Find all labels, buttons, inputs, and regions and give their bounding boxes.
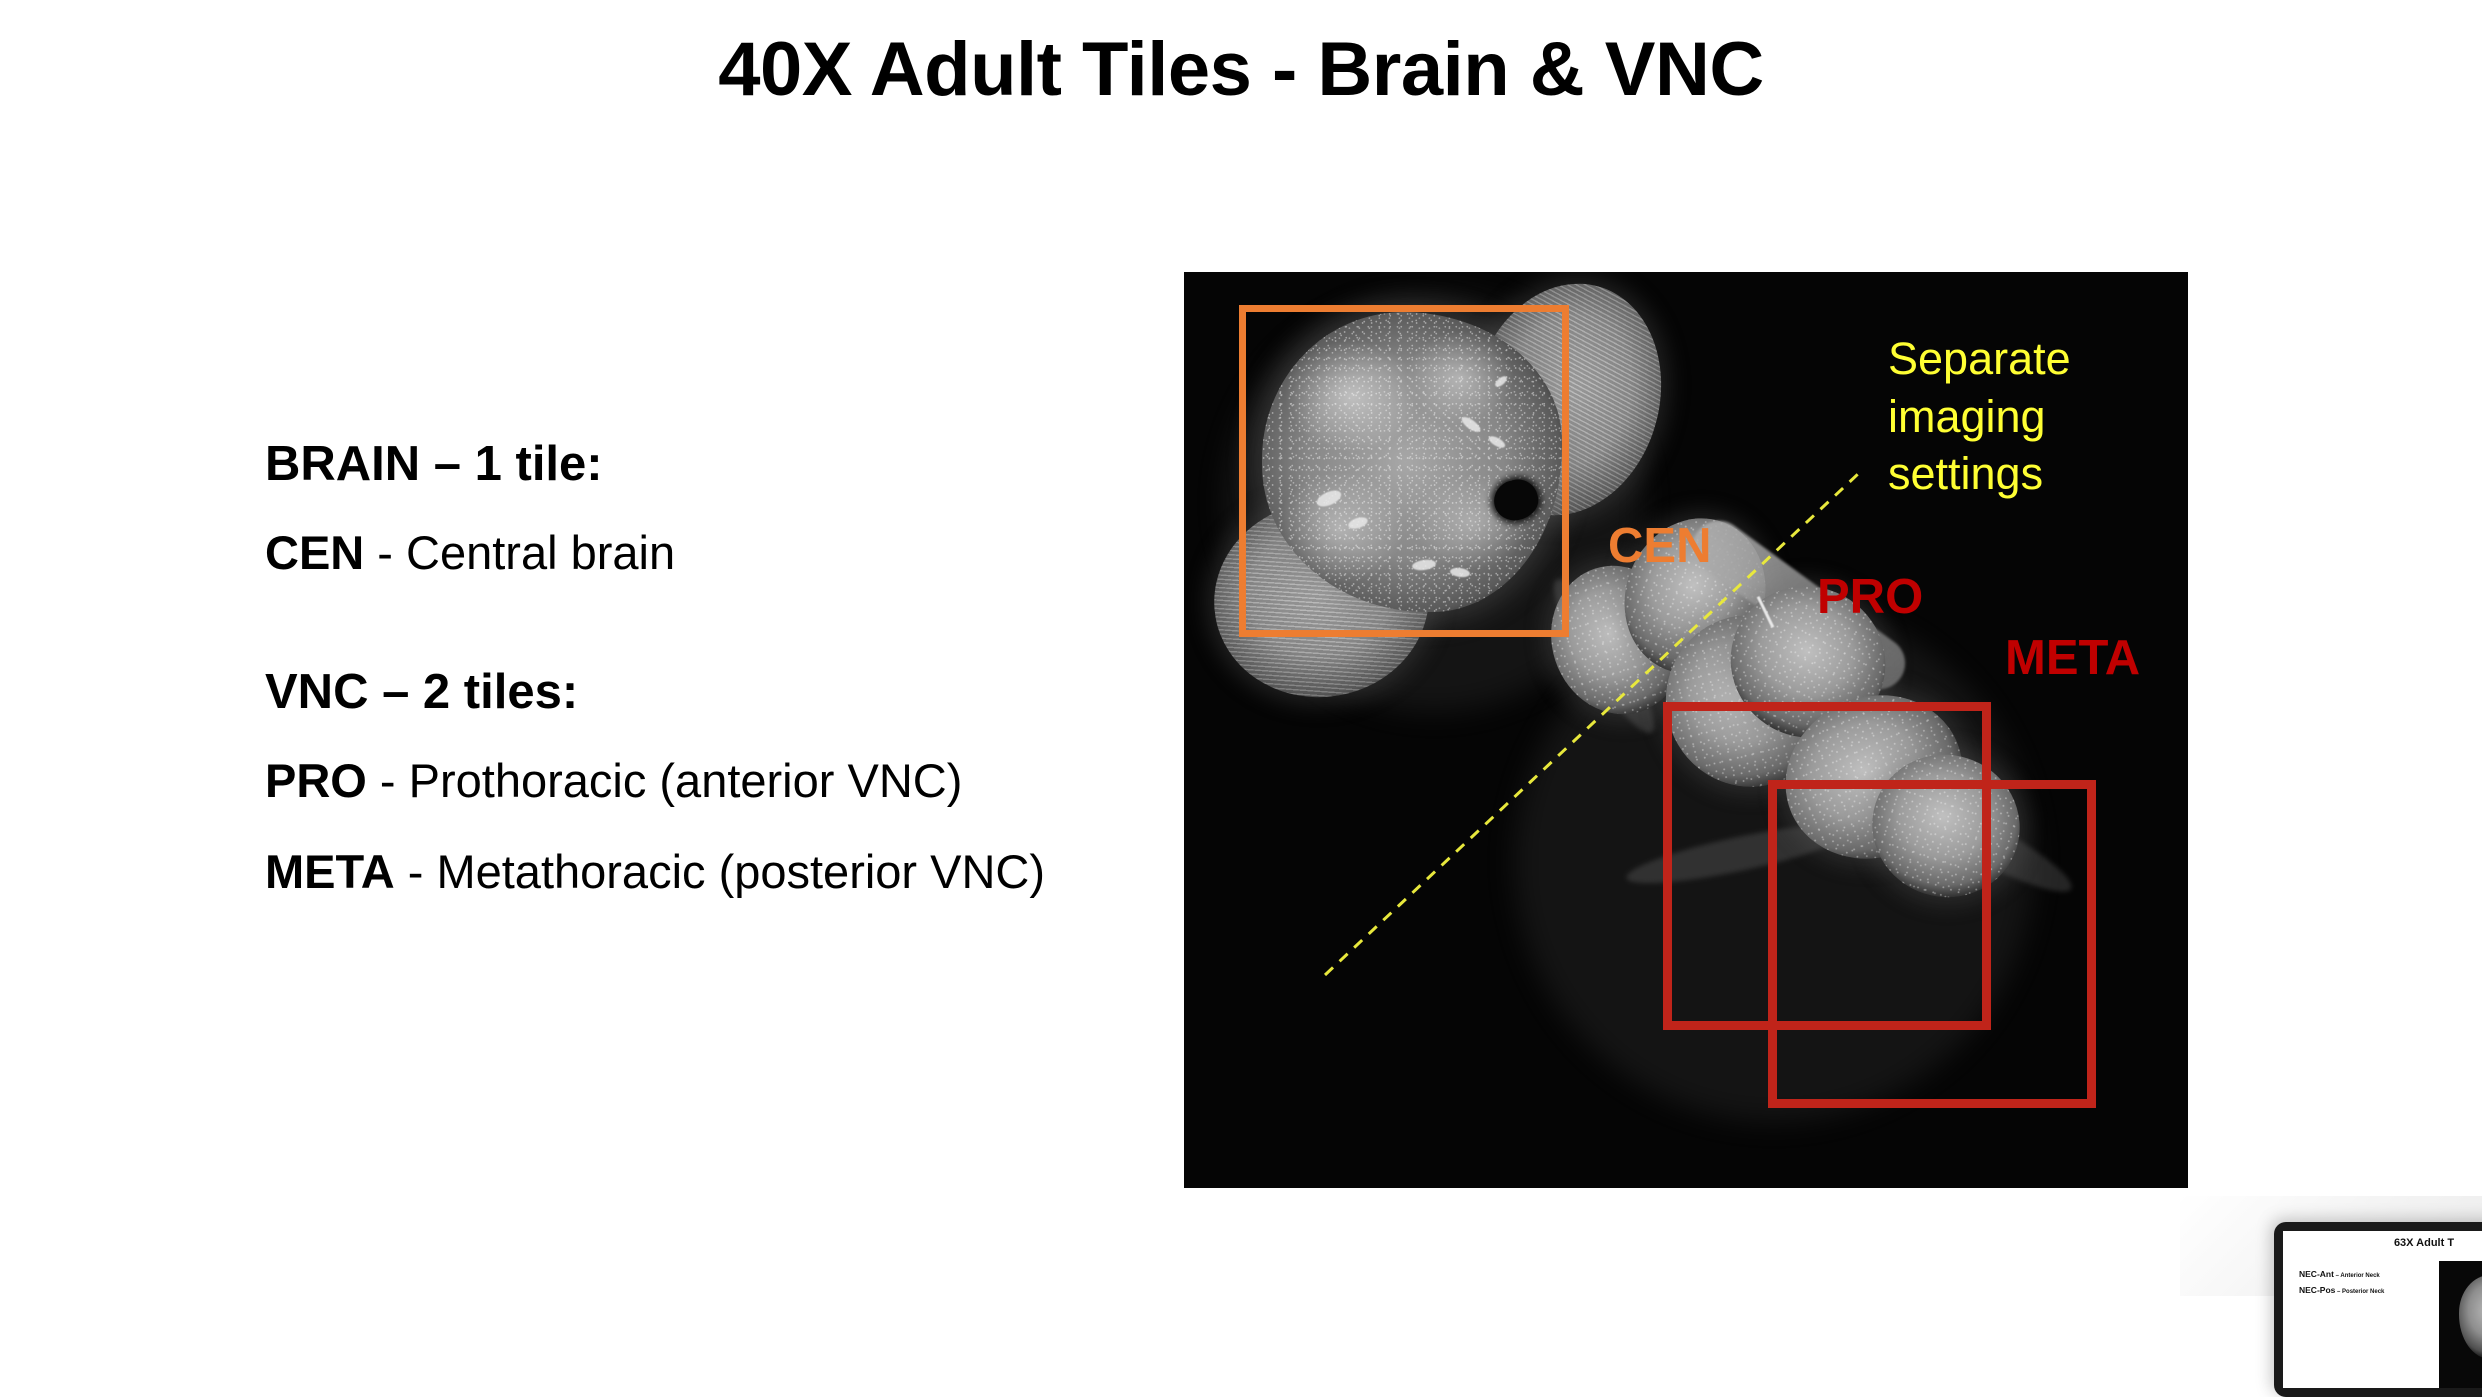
page-title: 40X Adult Tiles - Brain & VNC	[0, 28, 2482, 112]
slide-canvas: 40X Adult Tiles - Brain & VNC BRAIN – 1 …	[0, 0, 2482, 1296]
legend-text-column: BRAIN – 1 tile: CEN - Central brain VNC …	[265, 440, 1085, 895]
thumbnail-def-abbr: NEC-Ant	[2299, 1269, 2334, 1279]
imaging-settings-annotation: Separate imaging settings	[1888, 330, 2071, 503]
brain-heading: BRAIN – 1 tile:	[265, 440, 1085, 489]
definition-cen: CEN - Central brain	[265, 529, 1085, 576]
definition-cen-description: Central brain	[406, 526, 675, 579]
line-spacer	[265, 804, 1085, 848]
thumbnail-specimen	[2459, 1275, 2482, 1359]
thumbnail-definition-nec-ant: NEC-Ant – Anterior Neck	[2299, 1269, 2380, 1279]
annotation-line-1: Separate	[1888, 330, 2071, 388]
section-spacer	[265, 576, 1085, 668]
definition-pro-description: Prothoracic (anterior VNC)	[409, 754, 963, 807]
definition-meta-abbr: META	[265, 845, 395, 898]
definition-meta: META - Metathoracic (posterior VNC)	[265, 848, 1085, 895]
thumbnail-definition-nec-pos: NEC-Pos – Posterior Neck	[2299, 1285, 2384, 1295]
thumbnail-def-description: Posterior Neck	[2342, 1289, 2384, 1295]
annotation-line-3: settings	[1888, 445, 2071, 503]
thumbnail-micrograph	[2439, 1261, 2482, 1388]
vnc-heading: VNC – 2 tiles:	[265, 668, 1085, 717]
annotation-line-2: imaging	[1888, 388, 2071, 446]
thumbnail-def-description: Anterior Neck	[2340, 1273, 2379, 1279]
thumbnail-def-abbr: NEC-Pos	[2299, 1285, 2335, 1295]
definition-pro: PRO - Prothoracic (anterior VNC)	[265, 757, 1085, 804]
roi-label-meta: META	[2005, 634, 2140, 683]
definition-pro-abbr: PRO	[265, 754, 367, 807]
roi-box-meta[interactable]	[1768, 780, 2096, 1108]
roi-label-cen: CEN	[1608, 522, 1711, 571]
definition-meta-separator: -	[395, 845, 437, 898]
definition-pro-separator: -	[367, 754, 409, 807]
next-slide-thumbnail[interactable]: 63X Adult T NEC-Ant – Anterior Neck NEC-…	[2274, 1222, 2482, 1397]
definition-meta-description: Metathoracic (posterior VNC)	[436, 845, 1045, 898]
definition-cen-abbr: CEN	[265, 526, 364, 579]
thumbnail-page: 63X Adult T NEC-Ant – Anterior Neck NEC-…	[2283, 1231, 2482, 1388]
roi-label-pro: PRO	[1817, 573, 1923, 622]
thumbnail-title: 63X Adult T	[2283, 1237, 2482, 1249]
definition-cen-separator: -	[364, 526, 406, 579]
roi-box-cen[interactable]	[1239, 305, 1569, 637]
